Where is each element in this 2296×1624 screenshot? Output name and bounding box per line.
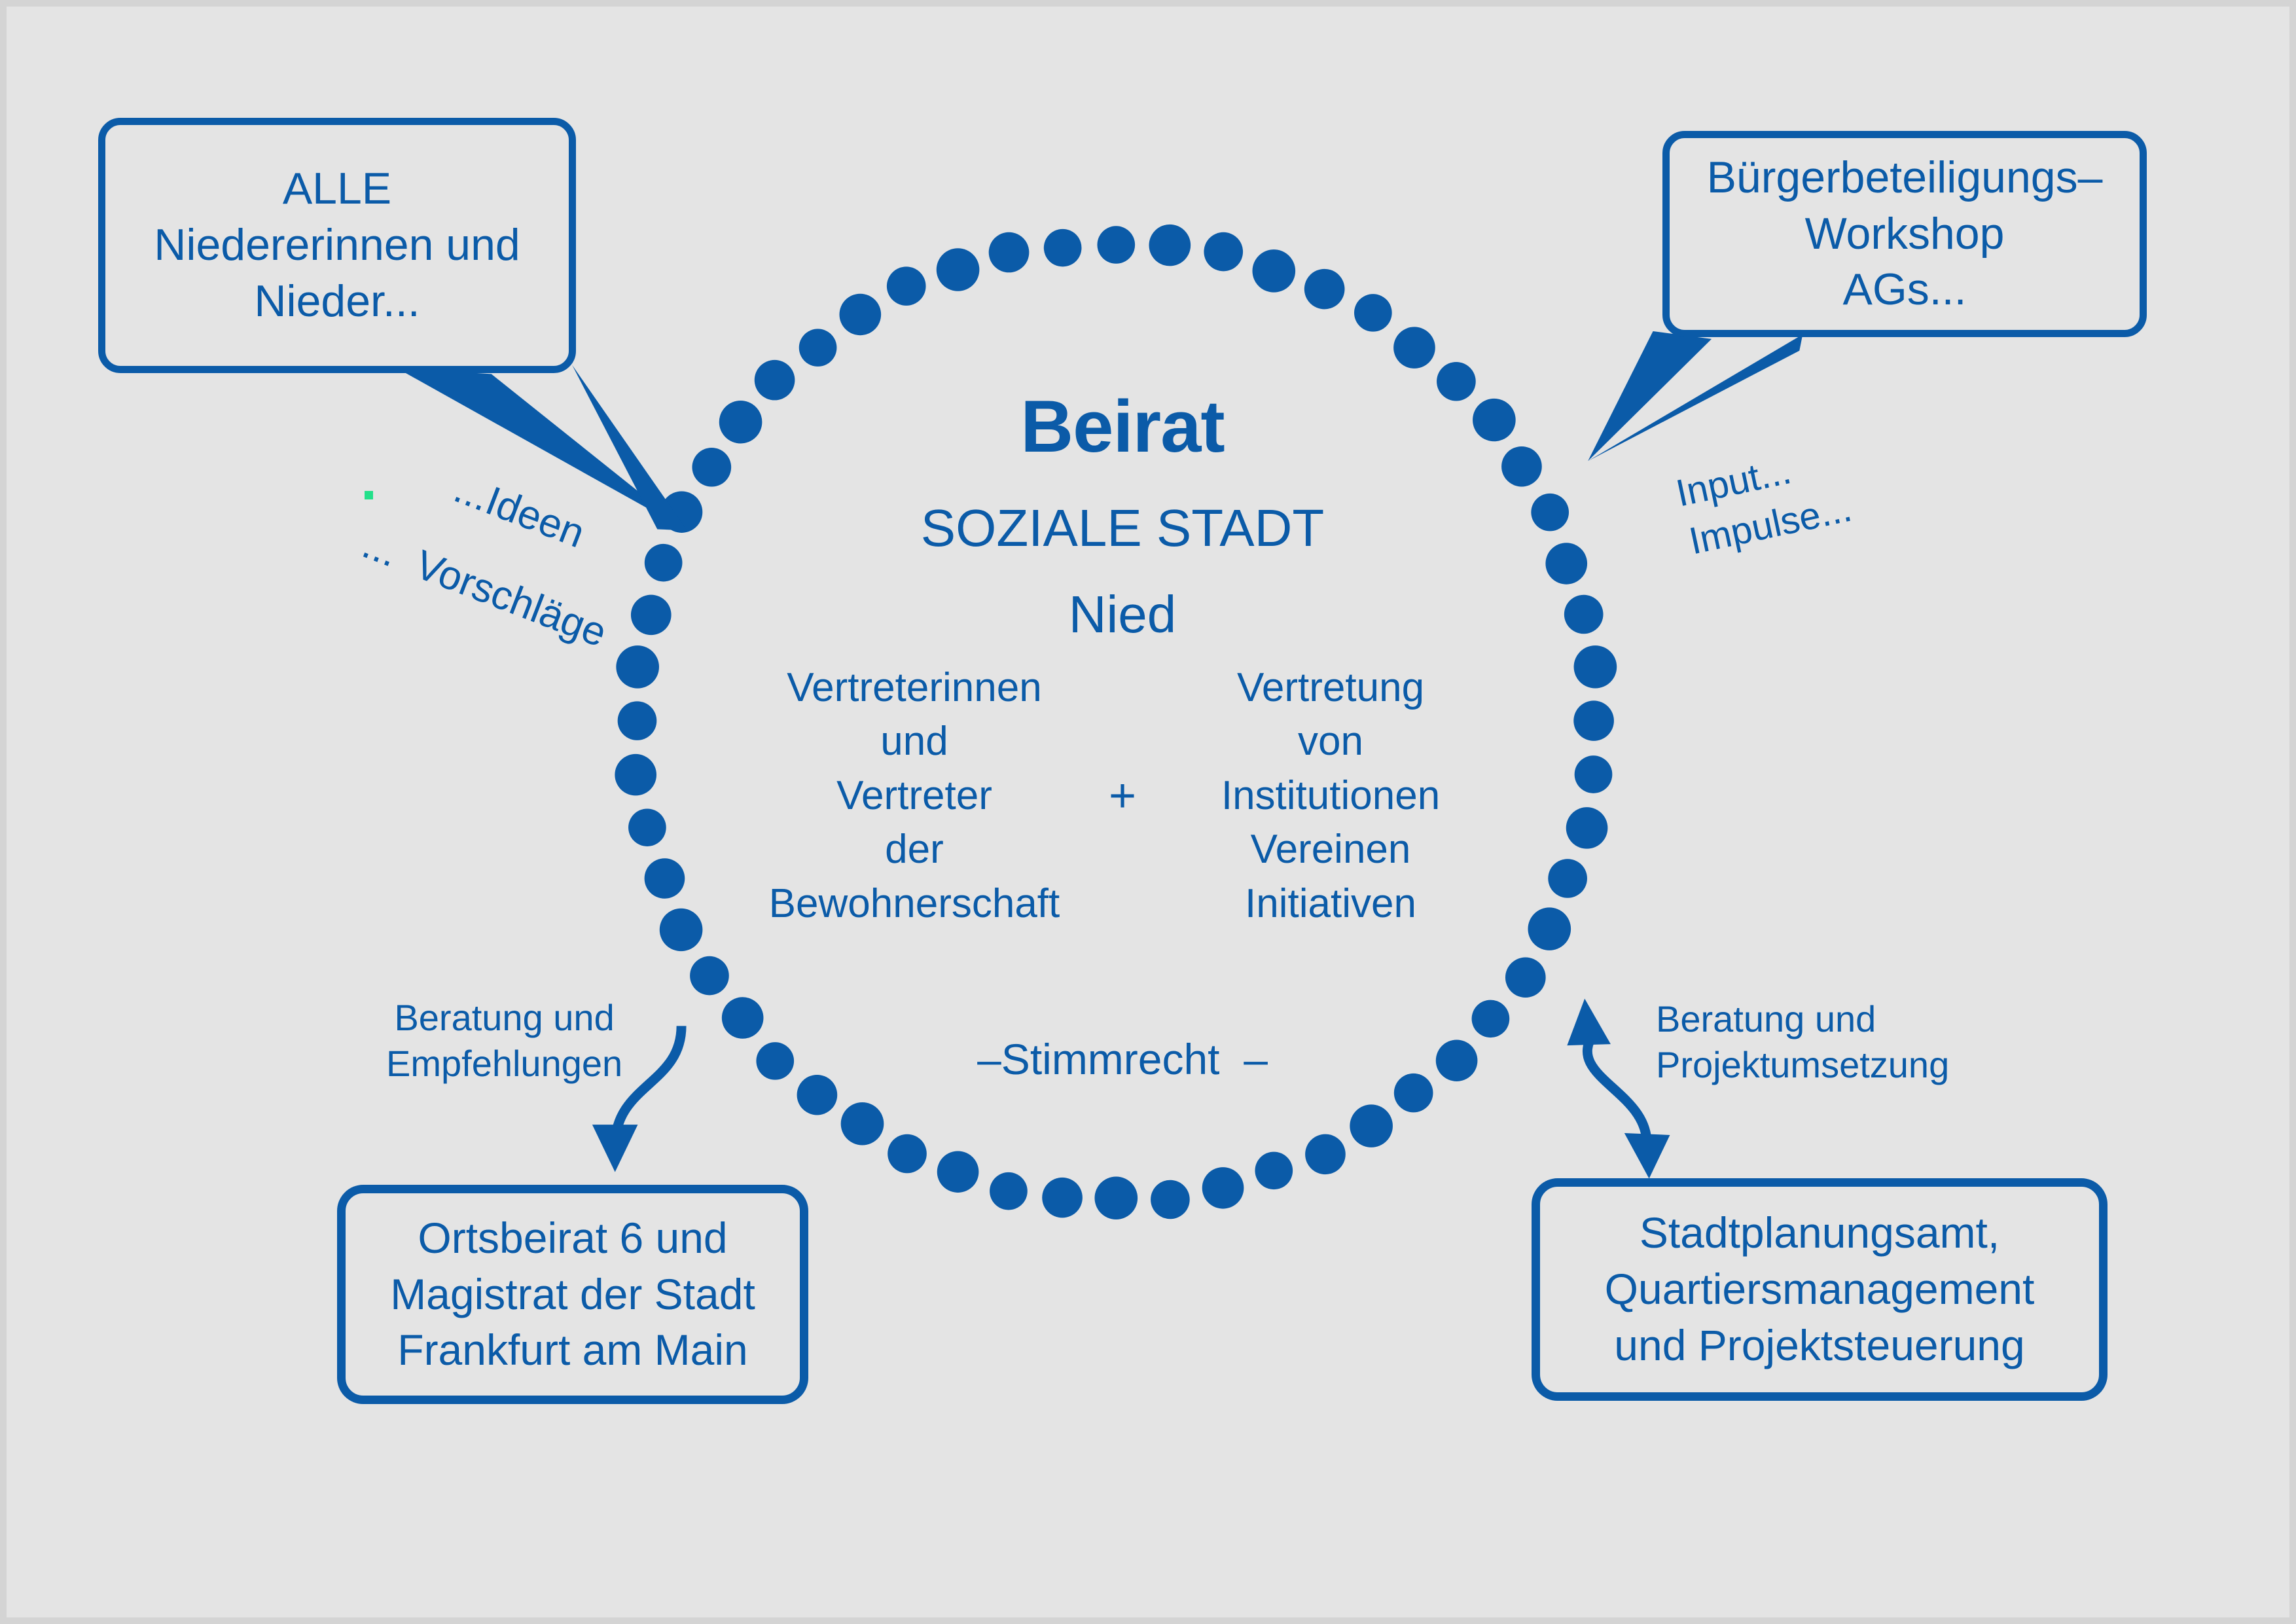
ring-dot (799, 329, 837, 367)
membership-columns: Vertreterinnen und Vertreter der Bewohne… (761, 661, 1484, 931)
ring-dot (990, 1172, 1028, 1210)
annotation-beratung-empfehlungen: Beratung und Empfehlungen (386, 995, 622, 1087)
ring-dot (1042, 1178, 1083, 1218)
column-institutionen: Vertretung von Institutionen Vereinen In… (1177, 661, 1484, 931)
ring-dot (1505, 957, 1546, 998)
ring-dot (937, 1151, 979, 1192)
ring-dot (1437, 362, 1476, 401)
ring-dot (722, 997, 764, 1038)
diagram-canvas: ALLE Niedererinnen und Nieder... Bürgerb… (0, 0, 2296, 1624)
ring-dot (631, 595, 672, 636)
ring-dot (1575, 755, 1613, 793)
ring-dot (1304, 269, 1345, 310)
ring-dot (618, 701, 657, 740)
stimmrecht-note: –Stimmrecht – (977, 1034, 1268, 1085)
arrow-beratung-empfehlungen-head (592, 1125, 638, 1172)
green-marker-dot (365, 491, 373, 499)
speech-bubble-buergerbeteiligung-text: Bürgerbeteiligungs– Workshop AGs... (1707, 150, 2103, 318)
ring-dot (1305, 1134, 1346, 1175)
ring-dot (1394, 1074, 1433, 1113)
ring-dot (645, 544, 683, 582)
ring-dot (1528, 907, 1571, 950)
ring-dot (615, 754, 656, 795)
ring-dot (989, 232, 1030, 273)
annotation-beratung-projektumsetzung: Beratung und Projektumsetzung (1656, 996, 1949, 1088)
ring-dot (1573, 700, 1614, 741)
ring-dot (645, 858, 685, 899)
ring-dot (755, 360, 795, 401)
ring-dot (1204, 232, 1243, 272)
ring-dot (756, 1042, 794, 1080)
ring-dot (1472, 1000, 1510, 1038)
ring-dot (628, 808, 666, 846)
ring-dot (616, 645, 659, 688)
ring-dot (660, 909, 703, 951)
ring-dot (1149, 225, 1191, 266)
ring-dot (888, 1134, 927, 1174)
ring-dot (1252, 249, 1295, 292)
ring-dot (1473, 399, 1516, 441)
ring-dot (1548, 859, 1587, 898)
center-heading: Beirat SOZIALE STADT Nied (921, 363, 1324, 670)
ring-dot (841, 1102, 884, 1145)
ring-dot (1436, 1039, 1478, 1081)
center-location: Nied (921, 584, 1324, 645)
ring-dot (690, 956, 729, 996)
bubble-tail-buerger (1588, 331, 1712, 461)
ring-dot (1097, 226, 1135, 264)
box-stadtplanungsamt-text: Stadtplanungsamt, Quartiersmanagement un… (1605, 1205, 2035, 1373)
ring-dot (1151, 1180, 1190, 1219)
ring-dot (840, 294, 882, 335)
ring-dot (1354, 294, 1392, 332)
speech-bubble-alle-text: ALLE Niedererinnen und Nieder... (154, 161, 520, 329)
ring-dot (1350, 1104, 1393, 1147)
ring-dot (1044, 229, 1082, 267)
ring-dot (1094, 1176, 1138, 1219)
box-stadtplanungsamt[interactable]: Stadtplanungsamt, Quartiersmanagement un… (1532, 1178, 2108, 1401)
ring-dot (1564, 595, 1604, 634)
plus-operator: + (1109, 772, 1136, 820)
ring-dot (1393, 327, 1435, 368)
arrow-beratung-projektumsetzung-line (1587, 1032, 1647, 1149)
ring-dot (1255, 1152, 1293, 1190)
ring-dot (937, 248, 980, 291)
ring-dot (1531, 494, 1569, 532)
center-subtitle: SOZIALE STADT (921, 497, 1324, 559)
arrow-beratung-projektumsetzung-head-down (1624, 1133, 1670, 1178)
page-title: Beirat (921, 388, 1324, 465)
ring-dot (1545, 543, 1587, 584)
box-ortsbeirat[interactable]: Ortsbeirat 6 und Magistrat der Stadt Fra… (337, 1185, 808, 1404)
ring-dot (1574, 645, 1617, 688)
column-bewohnerschaft: Vertreterinnen und Vertreter der Bewohne… (761, 661, 1068, 931)
arrow-beratung-projektumsetzung-head-up (1567, 999, 1611, 1045)
ring-dot (719, 401, 762, 443)
ring-dot (887, 266, 926, 306)
ring-dot (1566, 807, 1608, 848)
speech-bubble-buergerbeteiligung[interactable]: Bürgerbeteiligungs– Workshop AGs... (1662, 131, 2147, 337)
ring-dot (1501, 446, 1542, 487)
ring-dot (692, 448, 731, 487)
speech-bubble-alle[interactable]: ALLE Niedererinnen und Nieder... (98, 118, 576, 373)
ring-dot (797, 1075, 838, 1115)
ring-dot (1202, 1167, 1244, 1208)
box-ortsbeirat-text: Ortsbeirat 6 und Magistrat der Stadt Fra… (390, 1210, 755, 1379)
